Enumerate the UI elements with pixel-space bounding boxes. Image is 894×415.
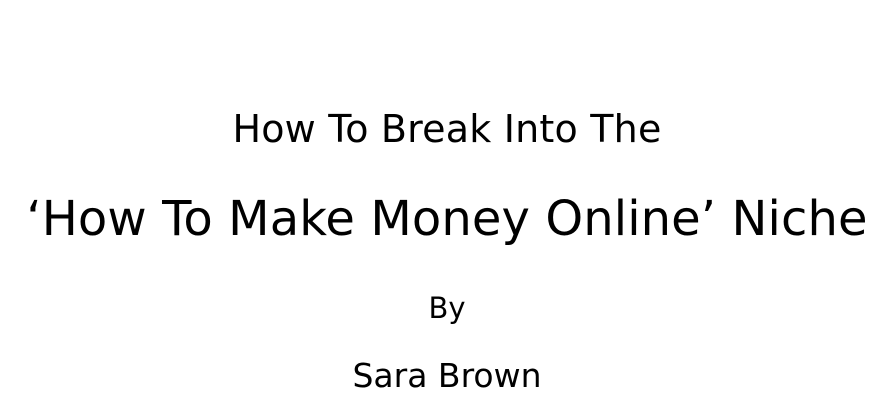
title-line-2: ‘How To Make Money Online’ Niche	[0, 191, 894, 247]
title-page: How To Break Into The ‘How To Make Money…	[0, 0, 894, 415]
author-name: Sara Brown	[0, 356, 894, 396]
title-line-1: How To Break Into The	[0, 106, 894, 152]
byline-label: By	[0, 291, 894, 326]
